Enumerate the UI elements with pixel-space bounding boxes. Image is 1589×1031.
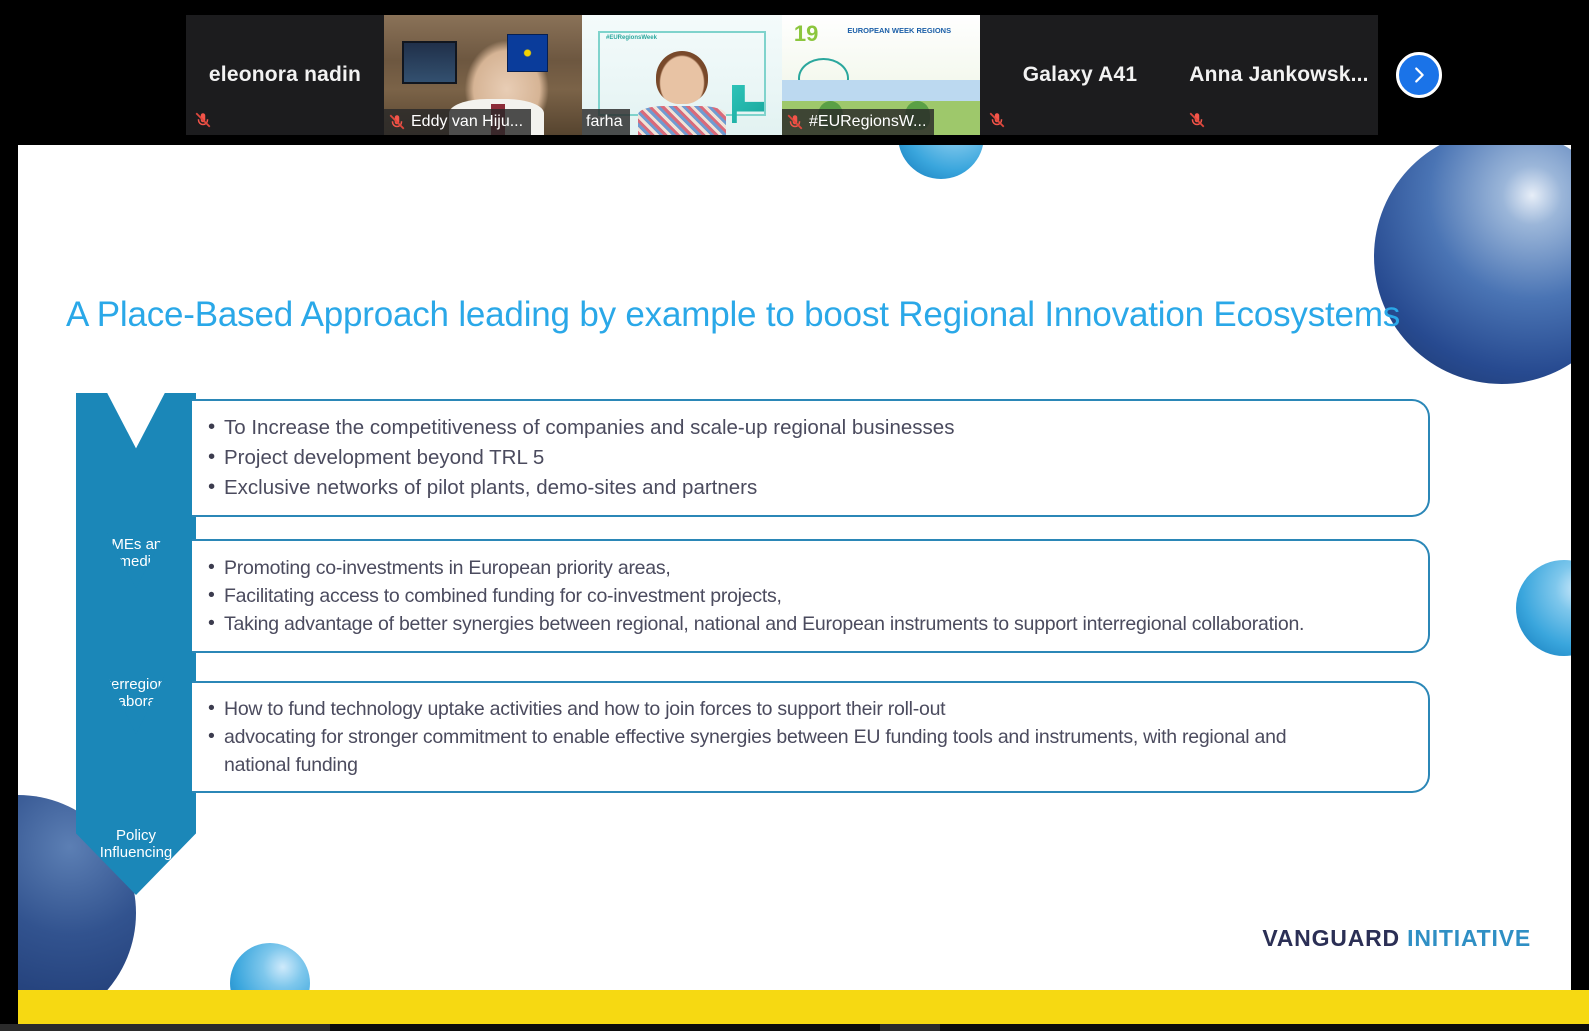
bullet-item: How to fund technology uptake activities… bbox=[208, 695, 1410, 723]
mute-icon bbox=[192, 109, 214, 131]
participant-name: Anna Jankowsk... bbox=[1180, 63, 1378, 87]
euweek-number: 19 bbox=[794, 23, 818, 45]
yellow-accent-bar bbox=[18, 990, 1589, 1024]
video-hashtag-overlay: #EURegionsWeek bbox=[606, 35, 657, 41]
participant-tile-eddy-van-hijum[interactable]: Eddy van Hiju... bbox=[384, 15, 582, 135]
bullet-item: advocating for stronger commitment to en… bbox=[208, 723, 1410, 780]
taskbar-segment-center[interactable] bbox=[880, 1024, 940, 1031]
decorative-sphere-bottom bbox=[230, 943, 310, 990]
chevron-right-icon bbox=[1408, 64, 1430, 86]
row-content-box: Promoting co-investments in European pri… bbox=[192, 539, 1430, 653]
participant-caption-label: Eddy van Hiju... bbox=[411, 113, 523, 131]
decorative-sphere-top bbox=[898, 145, 984, 179]
participant-caption: #EURegionsW... bbox=[782, 109, 934, 135]
row-label-line1: Policy bbox=[76, 827, 196, 844]
participant-caption: Eddy van Hiju... bbox=[384, 109, 531, 135]
euweek-title: EUROPEAN WEEK REGIONS bbox=[847, 26, 951, 35]
logo-word-vanguard: VANGUARD bbox=[1262, 925, 1400, 951]
participant-caption-label: #EURegionsW... bbox=[809, 113, 926, 131]
participant-tile-anna-jankowska[interactable]: Anna Jankowsk... bbox=[1180, 15, 1378, 135]
decorative-sphere-right bbox=[1516, 560, 1571, 656]
screen: eleonora nadin Eddy van Hiju... #EURegio… bbox=[0, 0, 1589, 1031]
slide-title: A Place-Based Approach leading by exampl… bbox=[66, 295, 1466, 335]
participant-tile-eleonora-nadin[interactable]: eleonora nadin bbox=[186, 15, 384, 135]
mute-icon bbox=[388, 113, 406, 131]
mute-icon bbox=[986, 109, 1008, 131]
logo-word-initiative: INITIATIVE bbox=[1407, 925, 1531, 951]
mute-icon bbox=[786, 113, 804, 131]
row-content-box: To Increase the competitiveness of compa… bbox=[192, 399, 1430, 517]
bullet-item: Exclusive networks of pilot plants, demo… bbox=[208, 473, 1410, 503]
participant-name: Galaxy A41 bbox=[1013, 63, 1147, 87]
mute-icon bbox=[1186, 109, 1208, 131]
participant-tile-galaxy-a41[interactable]: Galaxy A41 bbox=[980, 15, 1180, 135]
participant-tile-euregionsweek[interactable]: 19 EUROPEAN WEEK REGIONS #EURegionsW... bbox=[782, 15, 980, 135]
participant-tile-farha[interactable]: #EURegionsWeek farha bbox=[582, 15, 782, 135]
bullet-item: Facilitating access to combined funding … bbox=[208, 582, 1410, 610]
taskbar-segment-left[interactable] bbox=[0, 1024, 330, 1031]
bullet-item: Taking advantage of better synergies bet… bbox=[208, 610, 1410, 638]
participant-name: eleonora nadin bbox=[199, 63, 371, 87]
bullet-item: To Increase the competitiveness of compa… bbox=[208, 413, 1410, 443]
video-participant-strip: eleonora nadin Eddy van Hiju... #EURegio… bbox=[0, 0, 1589, 150]
row-content-box: How to fund technology uptake activities… bbox=[192, 681, 1430, 793]
participant-caption: farha bbox=[582, 109, 630, 135]
bullet-item: Promoting co-investments in European pri… bbox=[208, 554, 1410, 582]
decorative-sphere-top-right bbox=[1374, 145, 1571, 384]
next-participants-button[interactable] bbox=[1396, 52, 1442, 98]
participant-caption-label: farha bbox=[586, 113, 622, 131]
vanguard-initiative-logo: VANGUARD INITIATIVE bbox=[1262, 925, 1531, 952]
bullet-item: Project development beyond TRL 5 bbox=[208, 443, 1410, 473]
presentation-slide[interactable]: A Place-Based Approach leading by exampl… bbox=[18, 145, 1571, 990]
